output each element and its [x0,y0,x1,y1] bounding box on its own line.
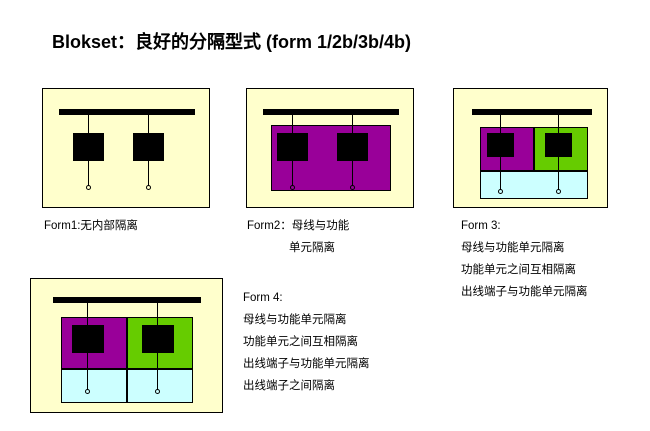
form2-caption-line-1: Form2：母线与功能 [247,215,349,237]
form3-caption-line-2: 母线与功能单元隔离 [461,237,588,259]
form3-terminal-1 [498,189,503,194]
form3-terminal-compartment [480,171,588,199]
form4-busbar [53,297,201,303]
form4-terminal-1 [85,389,90,394]
form4-terminal-compartment-left [61,369,127,403]
form4-caption-line-4: 出线端子与功能单元隔离 [243,353,370,375]
form4-caption-line-5: 出线端子之间隔离 [243,375,370,397]
form4-caption-line-3: 功能单元之间互相隔离 [243,331,370,353]
form1-terminal-1 [86,185,91,190]
form3-caption-line-1: Form 3: [461,215,588,237]
form3-caption: Form 3: 母线与功能单元隔离 功能单元之间互相隔离 出线端子与功能单元隔离 [461,215,588,303]
form2-panel [246,88,414,208]
form3-functional-unit-2 [545,133,572,157]
form4-caption-line-2: 母线与功能单元隔离 [243,309,370,331]
form3-functional-unit-1 [487,133,514,157]
form2-caption-line-2: 单元隔离 [289,237,349,259]
page-title: Blokset：良好的分隔型式 (form 1/2b/3b/4b) [52,28,411,54]
form1-busbar [59,109,195,115]
form4-terminal-compartment-right [127,369,193,403]
form3-busbar [472,109,592,115]
form4-terminal-2 [155,389,160,394]
form1-caption-line-1: Form1:无内部隔离 [44,215,138,237]
slide-canvas: Blokset：良好的分隔型式 (form 1/2b/3b/4b) Form1:… [0,0,650,431]
form2-functional-unit-2 [337,133,368,161]
form3-caption-line-3: 功能单元之间互相隔离 [461,259,588,281]
form2-caption: Form2：母线与功能 单元隔离 [247,215,349,259]
form4-panel [30,278,223,413]
form3-panel [453,88,608,208]
form1-functional-unit-1 [73,133,104,161]
form1-functional-unit-2 [133,133,164,161]
form2-terminal-1 [290,185,295,190]
form2-terminal-2 [350,185,355,190]
form3-terminal-2 [556,189,561,194]
form4-caption-line-1: Form 4: [243,287,370,309]
form4-functional-unit-2 [142,325,174,353]
form1-terminal-2 [146,185,151,190]
form4-functional-unit-1 [72,325,104,353]
form2-functional-unit-1 [277,133,308,161]
form1-panel [42,88,210,208]
form4-caption: Form 4: 母线与功能单元隔离 功能单元之间互相隔离 出线端子与功能单元隔离… [243,287,370,397]
form1-caption: Form1:无内部隔离 [44,215,138,237]
form3-caption-line-4: 出线端子与功能单元隔离 [461,281,588,303]
form2-busbar [263,109,399,115]
